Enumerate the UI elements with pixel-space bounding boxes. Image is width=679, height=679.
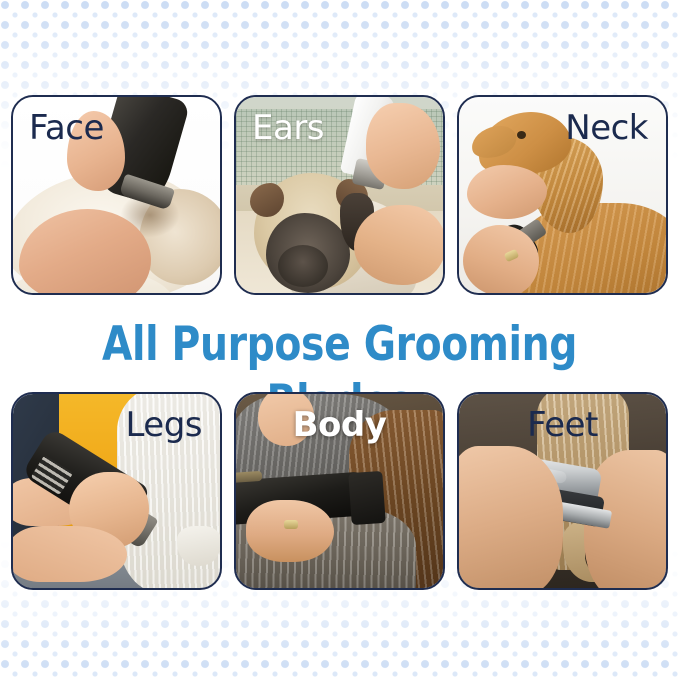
infographic-canvas: Face Ears <box>0 0 679 679</box>
card-legs[interactable]: Legs <box>11 392 222 590</box>
groomer-second-arm-shape <box>13 526 127 582</box>
card-ears[interactable]: Ears <box>234 95 445 295</box>
groomer-lower-hand-shape <box>463 225 539 293</box>
card-label-feet: Feet <box>527 408 598 442</box>
card-label-neck: Neck <box>565 111 648 145</box>
spaniel-eye-shape <box>517 131 526 139</box>
clipper-blade-shape <box>348 471 386 525</box>
card-neck[interactable]: Neck <box>457 95 668 295</box>
card-label-body: Body <box>293 408 387 442</box>
card-label-legs: Legs <box>125 408 202 442</box>
card-row-bottom: Legs Body <box>11 392 668 590</box>
finger-ring-shape <box>284 520 298 529</box>
card-body[interactable]: Body <box>234 392 445 590</box>
groomer-upper-hand-shape <box>366 103 440 189</box>
card-row-top: Face Ears <box>11 95 668 295</box>
groomer-hand-shape <box>246 500 334 562</box>
groomer-lower-hand-shape <box>354 205 443 285</box>
dog-paw-shape <box>177 526 220 566</box>
card-feet[interactable]: Feet <box>457 392 668 590</box>
card-face[interactable]: Face <box>11 95 222 295</box>
pug-snout-shape <box>278 245 328 287</box>
groomer-left-hand-shape <box>459 446 563 588</box>
card-label-face: Face <box>29 111 104 145</box>
card-label-ears: Ears <box>252 111 324 145</box>
groomer-upper-hand-shape <box>467 165 547 219</box>
